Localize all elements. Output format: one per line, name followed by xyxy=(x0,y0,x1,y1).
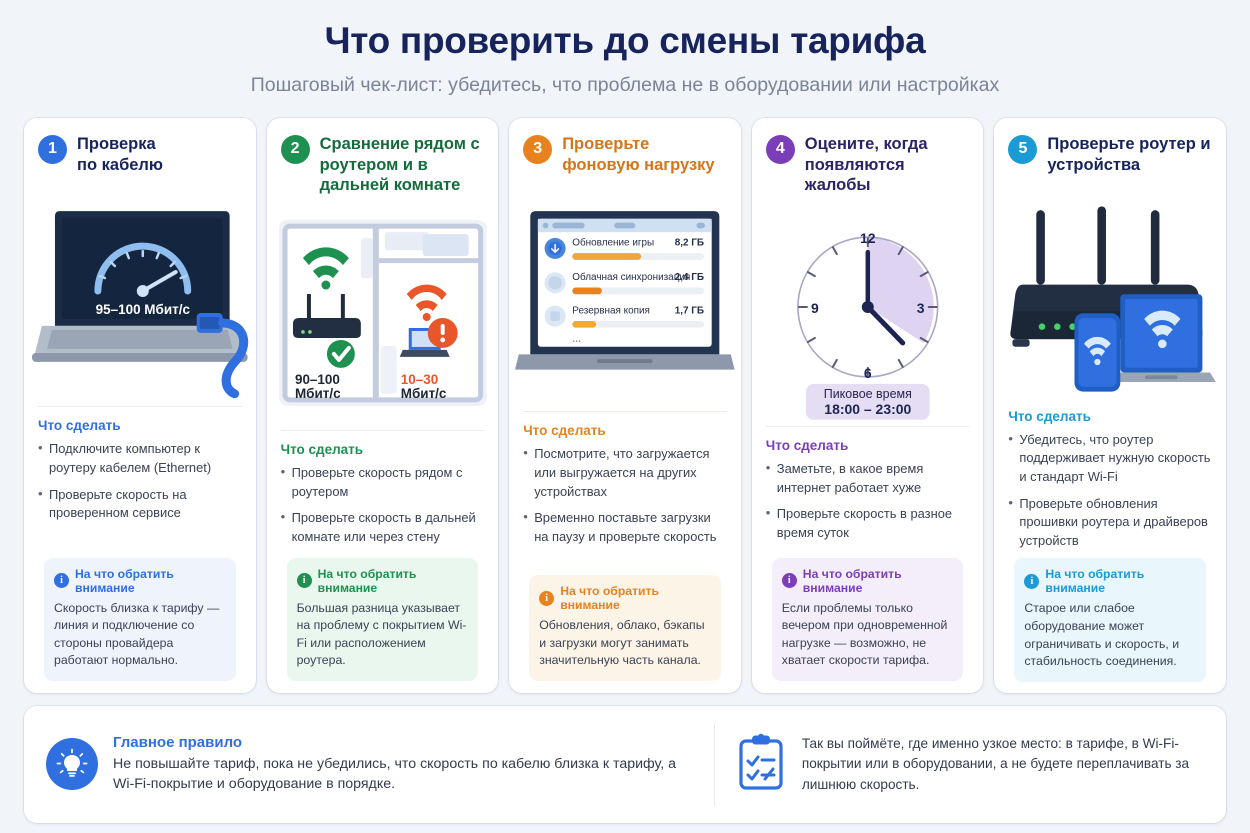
note-box-4: i На что обратить внимание Если проблемы… xyxy=(772,558,964,681)
footer-divider xyxy=(714,724,715,805)
info-icon: i xyxy=(782,573,797,588)
summary-text: Так вы поймёте, где именно узкое место: … xyxy=(802,734,1204,795)
note-title-5: На что обратить внимание xyxy=(1045,567,1196,595)
todo-list-1: Подключите компьютер к роутеру кабелем (… xyxy=(38,440,242,530)
download-progress-bar xyxy=(572,321,596,328)
card-title-3: Проверьтефоновую нагрузку xyxy=(562,134,714,176)
illustration-router-devices xyxy=(1000,193,1220,394)
page-subtitle: Пошаговый чек-лист: убедитесь, что пробл… xyxy=(24,73,1226,97)
card-body-2: Что сделать Проверьте скорость рядом с р… xyxy=(267,431,499,693)
info-icon: i xyxy=(54,573,69,588)
note-title-2: На что обратить внимание xyxy=(318,567,469,595)
todo-label-3: Что сделать xyxy=(523,423,727,438)
near-speed-line2: Мбит/с xyxy=(295,386,341,401)
clock-label-3: 3 xyxy=(917,300,925,316)
todo-item: Проверьте скорость рядом с роутером xyxy=(281,464,485,501)
todo-item: Проверьте обновления прошивки роутера и … xyxy=(1008,495,1212,551)
todo-list-5: Убедитесь, что роутер поддерживает нужну… xyxy=(1008,431,1212,558)
todo-label-5: Что сделать xyxy=(1008,409,1212,424)
note-header-3: i На что обратить внимание xyxy=(539,584,711,612)
note-box-1: i На что обратить внимание Скорость близ… xyxy=(44,558,236,681)
note-box-5: i На что обратить внимание Старое или сл… xyxy=(1014,558,1206,681)
info-icon: i xyxy=(297,573,312,588)
note-box-2: i На что обратить внимание Большая разни… xyxy=(287,558,479,681)
card-title-5: Проверьте роутер и устройства xyxy=(1047,134,1212,176)
note-text-4: Если проблемы только вечером при одновре… xyxy=(782,600,954,670)
far-speed-line1: 10–30 xyxy=(400,372,437,387)
near-speed-line1: 90–100 xyxy=(295,372,340,387)
note-header-2: i На что обратить внимание xyxy=(297,567,469,595)
download-size: 2,4 ГБ xyxy=(675,272,704,283)
illustration-clock-peak: 12 3 6 9 Пиковое время 18:00 – 23:00 xyxy=(758,212,978,422)
card-header-1: 1 Проверкапо кабелю xyxy=(24,118,256,182)
todo-list-4: Заметьте, в какое время интернет работае… xyxy=(766,460,970,550)
clipboard-checklist-icon xyxy=(735,733,787,796)
lightbulb-icon xyxy=(46,738,98,790)
clock-label-9: 9 xyxy=(811,300,819,316)
card-body-1: Что сделать Подключите компьютер к роуте… xyxy=(24,407,256,692)
info-icon: i xyxy=(1024,574,1039,589)
peak-range: 18:00 – 23:00 xyxy=(824,401,911,417)
infographic-page: Что проверить до смены тарифа Пошаговый … xyxy=(0,0,1250,833)
todo-item: Временно поставьте загрузки на паузу и п… xyxy=(523,509,727,546)
download-size: 8,2 ГБ xyxy=(675,238,704,249)
card-title-4: Оцените, когда появляются жалобы xyxy=(805,134,970,196)
download-name: Облачная синхронизация xyxy=(572,272,690,283)
todo-item: Подключите компьютер к роутеру кабелем (… xyxy=(38,440,242,477)
step-card-4[interactable]: 4 Оцените, когда появляются жалобы xyxy=(752,118,984,693)
note-header-5: i На что обратить внимание xyxy=(1024,567,1196,595)
card-body-4: Что сделать Заметьте, в какое время инте… xyxy=(752,427,984,693)
step-number-badge-3: 3 xyxy=(523,135,552,164)
footer-panel: Главное правило Не повышайте тариф, пока… xyxy=(24,706,1226,823)
main-rule-text-block: Главное правило Не повышайте тариф, пока… xyxy=(113,734,694,795)
step-card-3[interactable]: 3 Проверьтефоновую нагрузку Обновлени xyxy=(509,118,741,693)
card-header-2: 2 Сравнение рядом с роутером и в дальней… xyxy=(267,118,499,202)
card-title-1: Проверкапо кабелю xyxy=(77,134,163,176)
step-card-1[interactable]: 1 Проверкапо кабелю xyxy=(24,118,256,693)
info-icon: i xyxy=(539,591,554,606)
todo-list-2: Проверьте скорость рядом с роутером Пров… xyxy=(281,464,485,554)
page-header: Что проверить до смены тарифа Пошаговый … xyxy=(24,14,1226,98)
clock-label-12: 12 xyxy=(860,230,876,246)
main-rule-text: Не повышайте тариф, пока не убедились, ч… xyxy=(113,754,694,795)
note-title-4: На что обратить внимание xyxy=(803,567,954,595)
clock-label-6: 6 xyxy=(864,365,872,381)
step-number-badge-5: 5 xyxy=(1008,135,1037,164)
card-header-5: 5 Проверьте роутер и устройства xyxy=(994,118,1226,182)
todo-list-3: Посмотрите, что загружается или выгружае… xyxy=(523,445,727,554)
note-text-3: Обновления, облако, бэкапы и загрузки мо… xyxy=(539,617,711,670)
note-header-4: i На что обратить внимание xyxy=(782,567,954,595)
todo-item: Убедитесь, что роутер поддерживает нужну… xyxy=(1008,431,1212,487)
note-text-5: Старое или слабое оборудование может огр… xyxy=(1024,600,1196,670)
page-title: Что проверить до смены тарифа xyxy=(24,14,1226,61)
todo-label-4: Что сделать xyxy=(766,438,970,453)
download-more-indicator: ... xyxy=(572,333,581,345)
note-box-3: i На что обратить внимание Обновления, о… xyxy=(529,575,721,681)
card-body-3: Что сделать Посмотрите, что загружается … xyxy=(509,412,741,692)
download-name: Обновление игры xyxy=(572,238,654,249)
download-progress-bar xyxy=(572,254,641,261)
step-number-badge-1: 1 xyxy=(38,135,67,164)
step-number-badge-4: 4 xyxy=(766,135,795,164)
todo-item: Проверьте скорость в дальней комнате или… xyxy=(281,509,485,546)
speed-value-label: 95–100 Мбит/с xyxy=(96,302,191,317)
card-title-2: Сравнение рядом с роутером и в дальней к… xyxy=(320,134,485,196)
peak-caption: Пиковое время xyxy=(824,387,912,401)
download-size: 1,7 ГБ xyxy=(675,306,704,317)
main-rule-block: Главное правило Не повышайте тариф, пока… xyxy=(46,734,694,795)
note-header-1: i На что обратить внимание xyxy=(54,567,226,595)
todo-item: Проверьте скорость на проверенном сервис… xyxy=(38,486,242,523)
card-header-3: 3 Проверьтефоновую нагрузку xyxy=(509,118,741,182)
illustration-laptop-ethernet: 95–100 Мбит/с xyxy=(30,183,250,398)
note-title-1: На что обратить внимание xyxy=(75,567,226,595)
note-text-2: Большая разница указывает на проблему с … xyxy=(297,600,469,670)
todo-label-1: Что сделать xyxy=(38,418,242,433)
todo-item: Проверьте скорость в разное время суток xyxy=(766,505,970,542)
steps-grid: 1 Проверкапо кабелю xyxy=(24,118,1226,693)
card-body-5: Что сделать Убедитесь, что роутер поддер… xyxy=(994,398,1226,693)
step-number-badge-2: 2 xyxy=(281,135,310,164)
step-card-2[interactable]: 2 Сравнение рядом с роутером и в дальней… xyxy=(267,118,499,693)
download-progress-bar xyxy=(572,288,602,295)
download-name: Резервная копия xyxy=(572,306,650,317)
note-title-3: На что обратить внимание xyxy=(560,584,711,612)
note-text-1: Скорость близка к тарифу — линия и подкл… xyxy=(54,600,226,670)
todo-item: Посмотрите, что загружается или выгружае… xyxy=(523,445,727,501)
card-header-4: 4 Оцените, когда появляются жалобы xyxy=(752,118,984,202)
todo-label-2: Что сделать xyxy=(281,442,485,457)
far-speed-line2: Мбит/с xyxy=(400,386,446,401)
todo-item: Заметьте, в какое время интернет работае… xyxy=(766,460,970,497)
summary-block: Так вы поймёте, где именно узкое место: … xyxy=(735,733,1204,796)
main-rule-title: Главное правило xyxy=(113,734,694,751)
step-card-5[interactable]: 5 Проверьте роутер и устройства xyxy=(994,118,1226,693)
illustration-floorplan-wifi: 90–100 Мбит/с 10–30 xyxy=(273,214,493,414)
illustration-laptop-downloads: Обновление игры 8,2 ГБ Облачная синхрони… xyxy=(515,199,735,399)
